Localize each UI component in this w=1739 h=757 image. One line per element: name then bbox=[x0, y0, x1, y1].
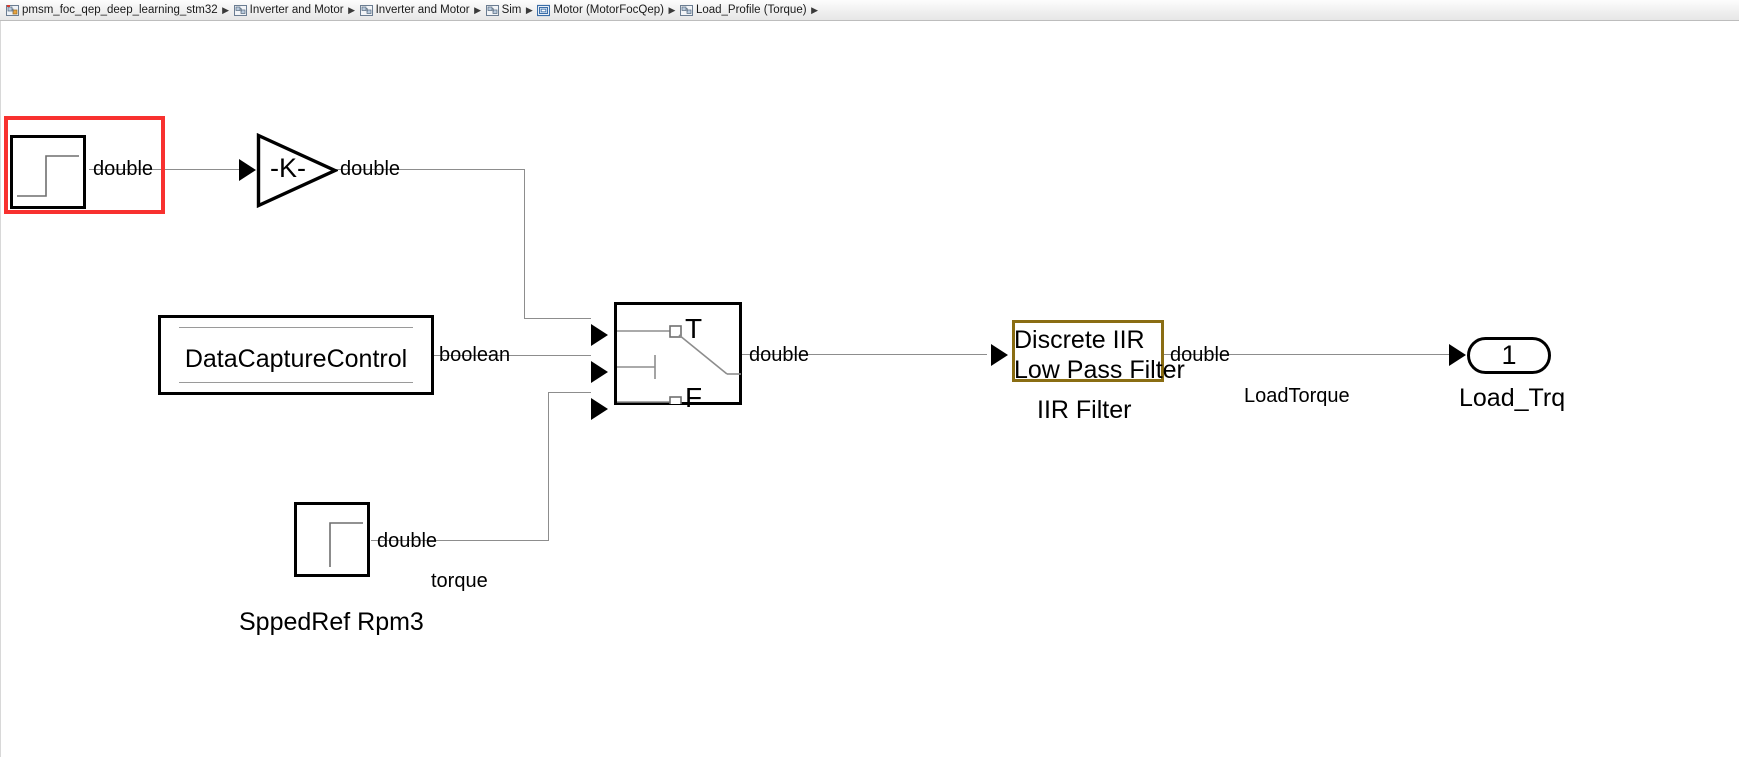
signal-label-switch-double: double bbox=[749, 345, 809, 365]
wire-speedref-to-switch-h2 bbox=[548, 392, 591, 393]
outport-caption: Load_Trq bbox=[1459, 386, 1565, 411]
switch-false-label: F bbox=[685, 384, 702, 412]
signal-label-gain-double: double bbox=[340, 159, 400, 179]
breadcrumb-item-inverter-and-motor-1[interactable]: Inverter and Motor bbox=[232, 1, 346, 20]
wire-gain-to-switch-h2 bbox=[524, 318, 591, 319]
subsystem-icon bbox=[486, 4, 499, 17]
subsystem-icon bbox=[234, 4, 247, 17]
signal-label-iir-double: double bbox=[1170, 345, 1230, 365]
gain-block[interactable]: -K- bbox=[256, 133, 338, 208]
breadcrumb-separator: ▶ bbox=[346, 1, 358, 20]
switch-input2-arrow bbox=[591, 361, 608, 383]
iir-input-arrow bbox=[991, 344, 1008, 366]
breadcrumb-item-label: Inverter and Motor bbox=[247, 1, 344, 20]
breadcrumb-item-label: Inverter and Motor bbox=[373, 1, 470, 20]
switch-input1-arrow bbox=[591, 324, 608, 346]
wire-speedref-to-switch-v bbox=[548, 392, 549, 541]
datacapturecontrol-block[interactable]: DataCaptureControl bbox=[158, 315, 434, 395]
breadcrumb-separator: ▶ bbox=[523, 1, 535, 20]
breadcrumb-separator: ▶ bbox=[666, 1, 678, 20]
switch-block[interactable]: T F bbox=[614, 302, 742, 405]
signal-label-speedref-double: double bbox=[377, 531, 437, 551]
step-waveform-icon bbox=[13, 138, 83, 206]
breadcrumb-item-motor[interactable]: Motor (MotorFocQep) bbox=[535, 1, 666, 20]
breadcrumb-item-label: Sim bbox=[499, 1, 522, 20]
switch-input3-arrow bbox=[591, 398, 608, 420]
subsystem-bottom-rule bbox=[179, 382, 413, 383]
outport-number: 1 bbox=[1501, 340, 1516, 371]
signal-label-loadtorque: LoadTorque bbox=[1244, 386, 1350, 406]
signal-label-step-double: double bbox=[93, 159, 153, 179]
breadcrumb-item-label: Motor (MotorFocQep) bbox=[550, 1, 664, 20]
signal-label-torque: torque bbox=[431, 571, 488, 591]
outport-block[interactable]: 1 bbox=[1467, 337, 1551, 374]
breadcrumb[interactable]: pmsm_foc_qep_deep_learning_stm32 ▶ Inver… bbox=[0, 0, 1739, 21]
gain-input-arrow bbox=[239, 159, 256, 181]
switch-symbol-icon bbox=[617, 305, 741, 404]
wire-gain-to-switch-v bbox=[524, 169, 525, 319]
breadcrumb-item-load-profile[interactable]: Load_Profile (Torque) bbox=[678, 1, 809, 20]
breadcrumb-item-sim[interactable]: Sim bbox=[484, 1, 524, 20]
speedref-step-caption: SppedRef Rpm3 bbox=[239, 610, 424, 635]
model-icon bbox=[6, 4, 19, 17]
subsystem-icon bbox=[360, 4, 373, 17]
breadcrumb-item-label: Load_Profile (Torque) bbox=[693, 1, 807, 20]
step-waveform-icon bbox=[297, 505, 367, 574]
iir-filter-caption: IIR Filter bbox=[1037, 398, 1131, 423]
simulink-canvas[interactable]: double -K- double DataCaptureControl boo… bbox=[0, 21, 1739, 757]
datacapturecontrol-label: DataCaptureControl bbox=[161, 347, 431, 372]
signal-label-boolean: boolean bbox=[439, 345, 510, 365]
iir-filter-block[interactable]: Discrete IIR Low Pass Filter bbox=[1012, 320, 1164, 382]
breadcrumb-item-label: pmsm_foc_qep_deep_learning_stm32 bbox=[19, 1, 218, 20]
breadcrumb-separator: ▶ bbox=[809, 1, 821, 20]
step-block[interactable] bbox=[10, 135, 86, 209]
switch-true-label: T bbox=[685, 315, 702, 343]
outport-input-arrow bbox=[1449, 344, 1466, 366]
breadcrumb-separator: ▶ bbox=[220, 1, 232, 20]
breadcrumb-item-inverter-and-motor-2[interactable]: Inverter and Motor bbox=[358, 1, 472, 20]
gain-label: -K- bbox=[270, 153, 306, 184]
speedref-step-block[interactable] bbox=[294, 502, 370, 577]
subsystem-icon bbox=[680, 4, 693, 17]
breadcrumb-separator: ▶ bbox=[472, 1, 484, 20]
breadcrumb-item-model[interactable]: pmsm_foc_qep_deep_learning_stm32 bbox=[4, 1, 220, 20]
referenced-model-icon bbox=[537, 4, 550, 17]
subsystem-top-rule bbox=[179, 327, 413, 328]
